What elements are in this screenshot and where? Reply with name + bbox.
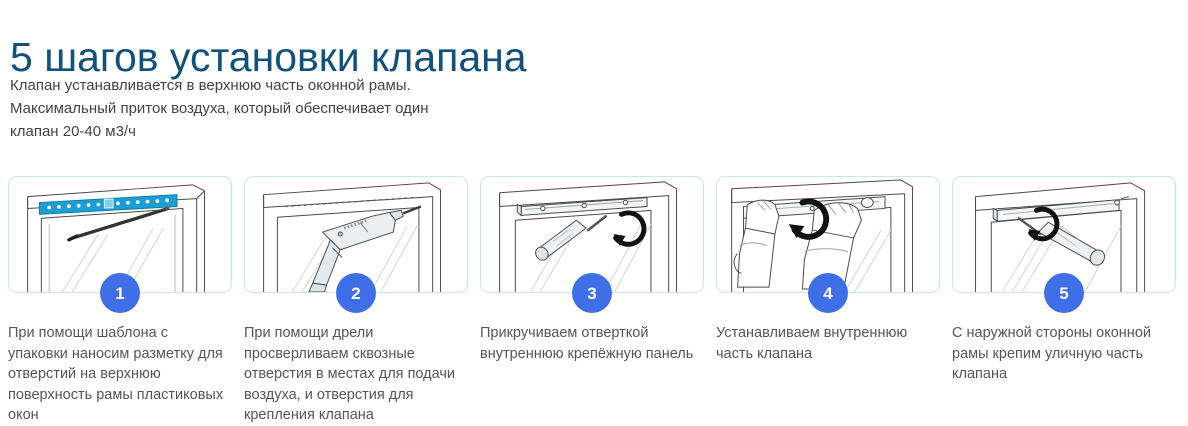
step-card-2: 2 При помощи дрели просверливаем сквозны… (244, 176, 468, 426)
step-caption-5: С наружной стороны оконной рамы крепим у… (952, 323, 1176, 385)
step-badge-1: 1 (100, 273, 140, 313)
intro-line-2: Максимальный приток воздуха, который обе… (10, 97, 650, 120)
step-card-1: 1 При помощи шаблона с упаковки наносим … (8, 176, 232, 426)
intro-line-1: Клапан устанавливается в верхнюю часть о… (10, 74, 650, 97)
step-caption-3: Прикручиваем отверткой внутреннюю крепёж… (480, 323, 704, 364)
intro-line-3: клапан 20-40 м3/ч (10, 120, 650, 143)
step-badge-5: 5 (1044, 273, 1084, 313)
steps-list: 1 При помощи шаблона с упаковки наносим … (8, 176, 1188, 426)
step-card-3: 3 Прикручиваем отверткой внутреннюю креп… (480, 176, 704, 426)
step-caption-2: При помощи дрели просверливаем сквозные … (244, 323, 468, 426)
step-badge-2: 2 (336, 273, 376, 313)
step-badge-4: 4 (808, 273, 848, 313)
step-caption-1: При помощи шаблона с упаковки наносим ра… (8, 323, 232, 426)
installation-steps-page: 5 шагов установки клапана Клапан устанав… (0, 0, 1188, 420)
step-card-4: 4 Устанавливаем внутреннюю часть клапана (716, 176, 940, 426)
step-badge-3: 3 (572, 273, 612, 313)
step-card-5: 5 С наружной стороны оконной рамы крепим… (952, 176, 1176, 426)
intro-paragraph: Клапан устанавливается в верхнюю часть о… (10, 74, 650, 143)
step-caption-4: Устанавливаем внутреннюю часть клапана (716, 323, 940, 364)
